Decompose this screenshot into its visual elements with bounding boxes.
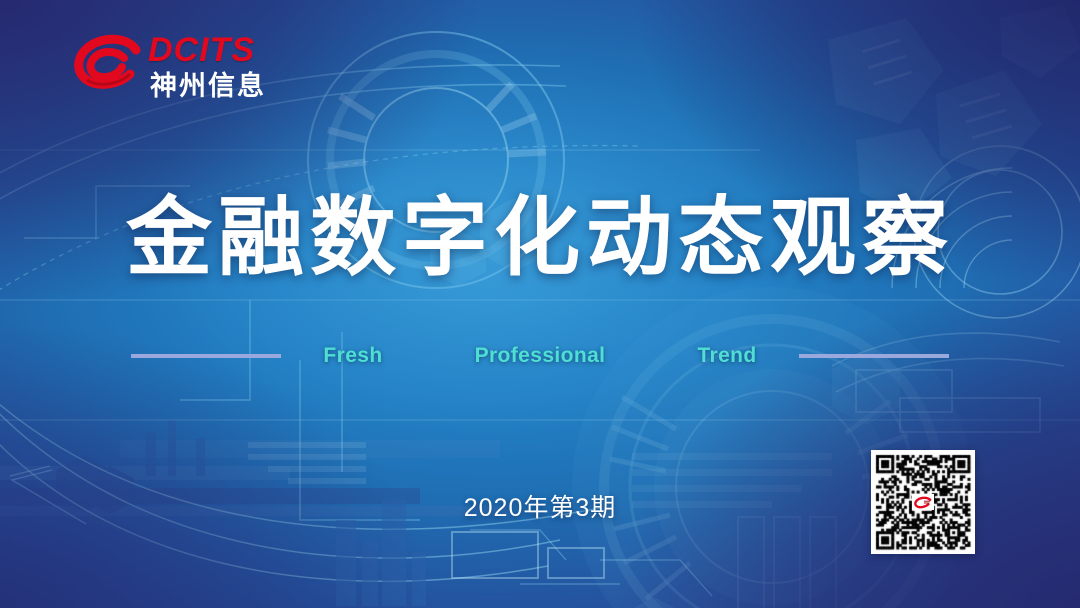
tagline-word-trend: Trend	[697, 344, 756, 368]
tagline-words: Fresh Professional Trend	[323, 344, 756, 368]
tagline-rule-right	[799, 354, 949, 358]
brand-name-en: DCITS	[148, 32, 288, 68]
wechat-qr-code[interactable]	[871, 450, 975, 554]
dcits-swoosh-icon	[72, 34, 144, 96]
dcits-swoosh-icon-small	[914, 496, 932, 509]
page-title: 金融数字化动态观察	[0, 188, 1080, 288]
tagline-word-professional: Professional	[475, 344, 606, 368]
tagline-word-fresh: Fresh	[323, 344, 382, 368]
brand-logo: DCITS 神州信息	[72, 32, 282, 110]
tagline-rule-left	[131, 354, 281, 358]
brand-wordmark: DCITS 神州信息	[148, 32, 288, 102]
cover-slide: DCITS 神州信息 金融数字化动态观察 Fresh Professional …	[0, 0, 1080, 608]
qr-center-logo	[912, 494, 934, 510]
brand-name-cn: 神州信息	[150, 70, 288, 102]
tagline-row: Fresh Professional Trend	[0, 340, 1080, 372]
